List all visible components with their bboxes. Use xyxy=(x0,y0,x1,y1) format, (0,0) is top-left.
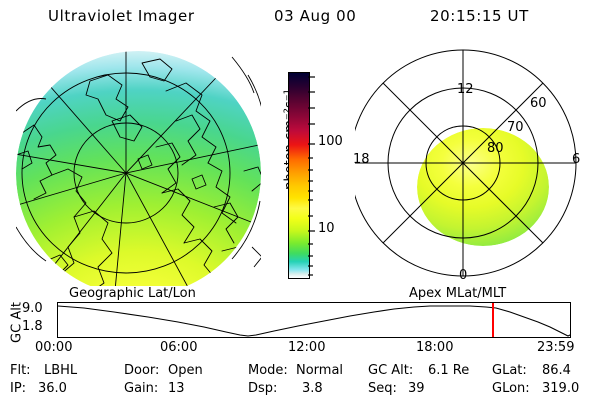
colorbar-tick-marks xyxy=(308,72,316,279)
time-tick-1800: 18:00 xyxy=(416,340,453,355)
status-gcalt-value: 6.1 Re xyxy=(428,363,469,378)
status-ip-value: 36.0 xyxy=(38,381,67,396)
observation-time: 20:15:15 UT xyxy=(430,7,529,25)
mlt-label-12: 12 xyxy=(457,82,474,97)
status-glat-value: 86.4 xyxy=(542,363,571,378)
observation-date: 03 Aug 00 xyxy=(274,7,356,25)
orbit-altitude-panel[interactable]: GC Alt 9.0 1.8 Geographic Lat/Lon Apex M… xyxy=(0,292,600,352)
status-glon-label: GLon: xyxy=(492,381,530,396)
status-footer: Flt: LBHL Door: Open Mode: Normal GC Alt… xyxy=(0,363,600,400)
mlat-ring-label-80: 80 xyxy=(487,141,504,156)
status-dsp-value: 3.8 xyxy=(302,381,323,396)
mlt-label-18: 18 xyxy=(353,152,370,167)
status-mode-value: Normal xyxy=(296,363,343,378)
header-bar: Ultraviolet Imager 03 Aug 00 20:15:15 UT xyxy=(0,0,600,38)
orbit-plot-box[interactable] xyxy=(57,302,571,338)
status-filter-value: LBHL xyxy=(44,363,77,378)
mlt-label-6: 6 xyxy=(572,152,580,167)
status-glon-value: 319.0 xyxy=(542,381,579,396)
current-time-marker xyxy=(492,303,494,337)
status-gain-label: Gain: xyxy=(124,381,158,396)
orbit-y-tick-high: 9.0 xyxy=(22,301,43,316)
mlt-label-0: 0 xyxy=(459,268,467,283)
geographic-track-label: Geographic Lat/Lon xyxy=(66,286,199,301)
time-tick-1200: 12:00 xyxy=(288,340,325,355)
status-dsp-label: Dsp: xyxy=(248,381,277,396)
mlat-mlt-grid xyxy=(355,40,600,290)
status-gcalt-label: GC Alt: xyxy=(368,363,413,378)
gc-altitude-trace xyxy=(58,303,571,338)
colorbar-tick-label-100: 100 xyxy=(318,134,343,149)
status-filter-label: Flt: xyxy=(10,363,31,378)
globe-limb-outline xyxy=(16,51,261,296)
status-gain-value: 13 xyxy=(168,381,185,396)
colorbar-panel: photon cm⁻²s⁻¹ 100 10 xyxy=(262,40,357,290)
mlat-ring-label-60: 60 xyxy=(530,96,547,111)
instrument-title: Ultraviolet Imager xyxy=(48,7,195,25)
status-door-label: Door: xyxy=(124,363,159,378)
status-glat-label: GLat: xyxy=(492,363,527,378)
time-tick-2359: 23:59 xyxy=(537,340,574,355)
orbit-y-tick-low: 1.8 xyxy=(22,319,43,334)
status-ip-label: IP: xyxy=(10,381,26,396)
time-tick-0600: 06:00 xyxy=(160,340,197,355)
apex-track-label: Apex MLat/MLT xyxy=(406,286,509,301)
status-door-value: Open xyxy=(168,363,203,378)
time-tick-0000: 00:00 xyxy=(35,340,72,355)
status-seq-value: 39 xyxy=(408,381,425,396)
status-seq-label: Seq: xyxy=(368,381,397,396)
mlat-ring-label-70: 70 xyxy=(507,120,524,135)
colorbar-gradient xyxy=(288,72,310,279)
geographic-globe-panel[interactable] xyxy=(0,40,265,290)
colorbar-tick-label-10: 10 xyxy=(318,221,335,236)
status-mode-label: Mode: xyxy=(248,363,288,378)
apex-mlat-mlt-panel[interactable]: 12 18 6 0 60 70 80 xyxy=(355,40,600,290)
